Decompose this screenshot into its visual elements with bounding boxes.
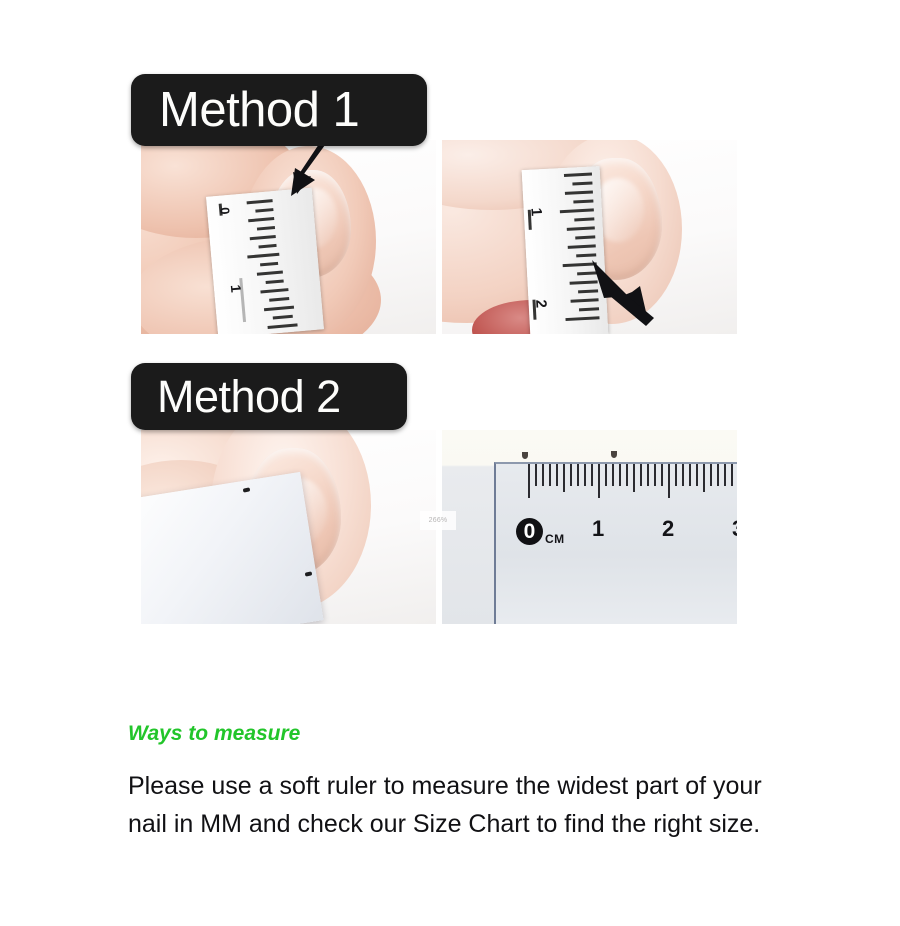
ruler-zero-badge: 0 — [516, 518, 543, 545]
tape-number: 0 — [217, 207, 233, 216]
tape-number: 1 — [527, 207, 544, 216]
ruler-unit-label: CM — [545, 532, 564, 546]
method-1-photo-right: 1 2 — [442, 140, 737, 334]
ruler-number: 2 — [662, 518, 674, 540]
method-1-photo-row: 0 1 — [141, 140, 737, 334]
method-2-photo-left — [141, 430, 436, 624]
measuring-tape: 0 1 — [206, 188, 324, 334]
down-left-arrow-icon — [271, 140, 351, 202]
ruler-number: 1 — [592, 518, 604, 540]
method-2-photo-right: 0 CM 1 2 3 — [442, 430, 737, 624]
up-left-arrow-icon — [588, 252, 688, 328]
method-2-badge: Method 2 — [131, 363, 407, 430]
tape-number: 2 — [532, 299, 549, 308]
method-1-badge: Method 1 — [131, 74, 427, 146]
paper-mark-pin — [611, 451, 617, 458]
zoom-level-indicator: 266% — [420, 511, 456, 530]
paper-mark-pin — [522, 452, 528, 459]
method-1-photo-left: 0 1 — [141, 140, 436, 334]
plastic-ruler: 0 CM 1 2 3 — [494, 462, 737, 624]
ruler-number: 3 — [732, 518, 737, 540]
paper-strip — [141, 472, 324, 624]
page-root: 0 1 — [0, 0, 900, 926]
ruler-ticks — [496, 464, 737, 514]
section-heading: Ways to measure — [128, 722, 778, 745]
tape-number: 1 — [228, 284, 245, 293]
method-1-badge-label: Method 1 — [159, 82, 359, 138]
instructions-block: Ways to measure Please use a soft ruler … — [128, 722, 778, 843]
instructions-paragraph: Please use a soft ruler to measure the w… — [128, 767, 768, 843]
method-2-badge-label: Method 2 — [157, 371, 341, 423]
